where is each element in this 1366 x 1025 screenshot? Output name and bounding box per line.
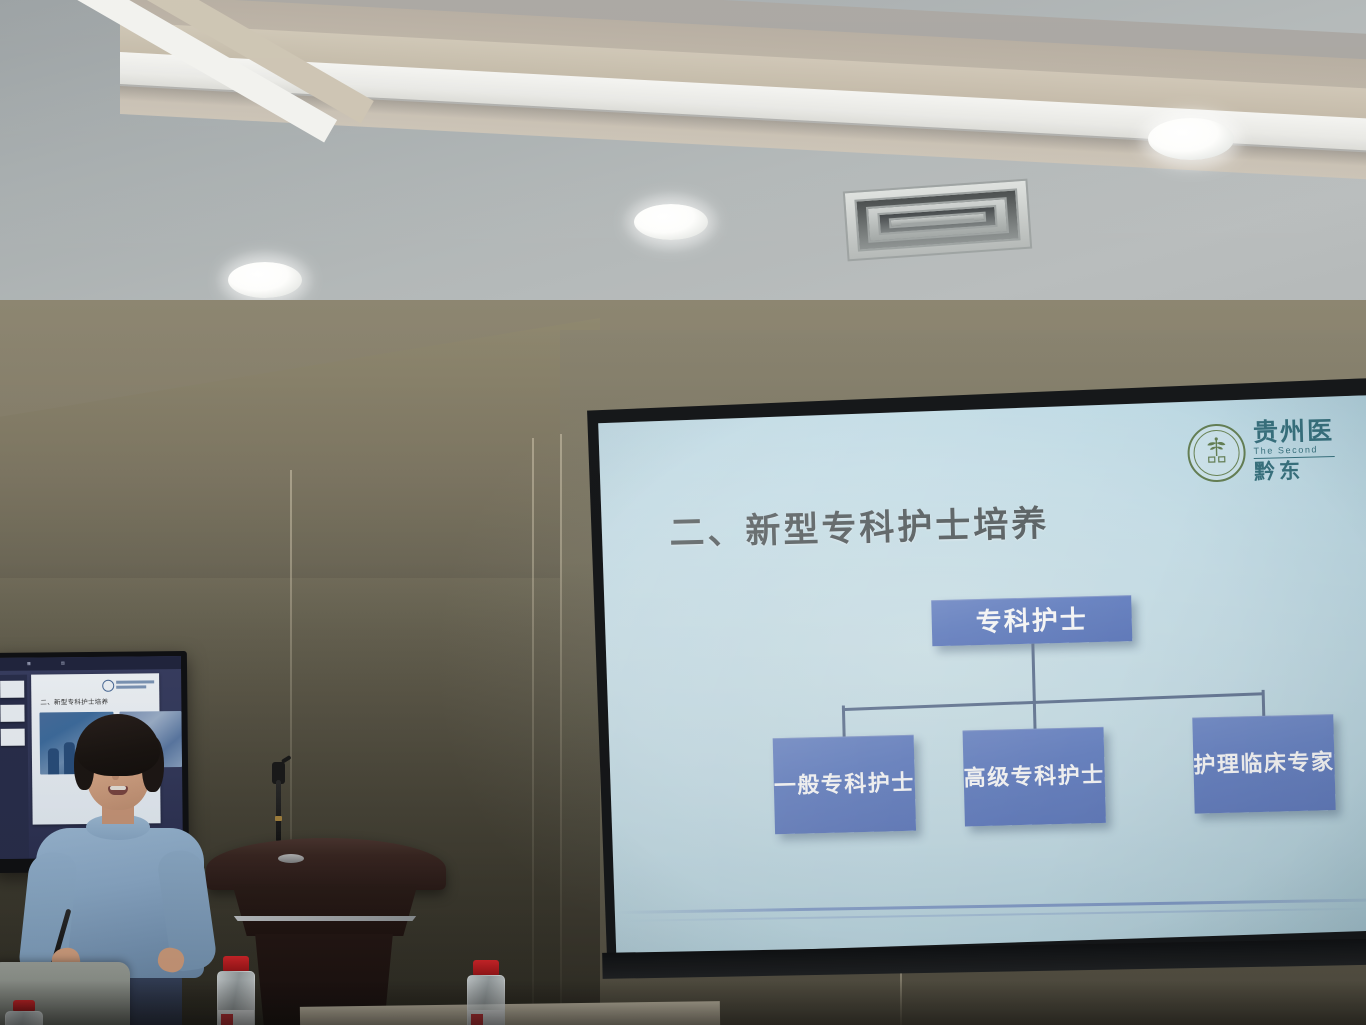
presenter-hair xyxy=(76,714,160,776)
lectern-accent-stripe xyxy=(230,916,420,921)
connector-drop xyxy=(1262,690,1265,717)
water-bottle xyxy=(466,960,506,1025)
projection-screen[interactable]: 二、新型专科护士培养 xyxy=(582,378,1366,978)
org-node-child: 一般专科护士 xyxy=(773,735,916,835)
lectern-top xyxy=(206,838,446,890)
org-node-child: 高级专科护士 xyxy=(963,727,1106,827)
bottle-body xyxy=(5,1011,43,1025)
org-node-child: 护理临床专家 xyxy=(1192,714,1335,814)
hvac-vent-icon xyxy=(843,179,1032,262)
bottle-cap xyxy=(13,1000,35,1011)
downlight-left xyxy=(228,262,302,298)
slide-thumbnail[interactable] xyxy=(0,705,24,722)
downlight-lamp xyxy=(228,262,302,298)
connector-horizontal-bar xyxy=(842,692,1264,710)
bottle-cap xyxy=(473,960,499,975)
mouth-icon xyxy=(108,786,128,795)
org-node-root: 专科护士 xyxy=(931,595,1132,646)
downlight-lamp xyxy=(634,204,708,240)
lectern-body xyxy=(222,884,428,936)
screen-surface: 二、新型专科护士培养 xyxy=(596,395,1366,955)
connector-stem xyxy=(1031,644,1035,702)
water-bottle xyxy=(4,1000,44,1025)
conference-room-scene: 二、新型专科护士培养 xyxy=(0,0,1366,1025)
presentation-slide: 二、新型专科护士培养 xyxy=(596,395,1366,955)
monitor-slide-logo xyxy=(102,677,154,694)
connector-drop xyxy=(1033,701,1036,730)
microphone-ring xyxy=(275,816,282,821)
downlight-lamp xyxy=(1148,118,1234,160)
downlight-right xyxy=(1148,118,1234,160)
org-chart: 专科护士 一般专科护士 高级专科护士 护理临床专家 xyxy=(596,395,1366,955)
slide-thumbnail[interactable] xyxy=(1,729,25,746)
monitor-toolbar: ▦ ▤ xyxy=(0,656,181,671)
bottle-label xyxy=(218,1010,254,1025)
bottle-body xyxy=(467,975,505,1025)
bottle-label xyxy=(468,1010,504,1025)
microphone-stem xyxy=(276,780,281,842)
slide-thumbnail[interactable] xyxy=(0,681,24,698)
bottle-cap xyxy=(223,956,249,971)
lectern-mic-base-plate xyxy=(278,854,304,863)
water-bottle xyxy=(216,956,256,1025)
bottle-body xyxy=(217,971,255,1025)
downlight-center xyxy=(634,204,708,240)
monitor-slide-title: 二、新型专科护士培养 xyxy=(40,696,108,707)
